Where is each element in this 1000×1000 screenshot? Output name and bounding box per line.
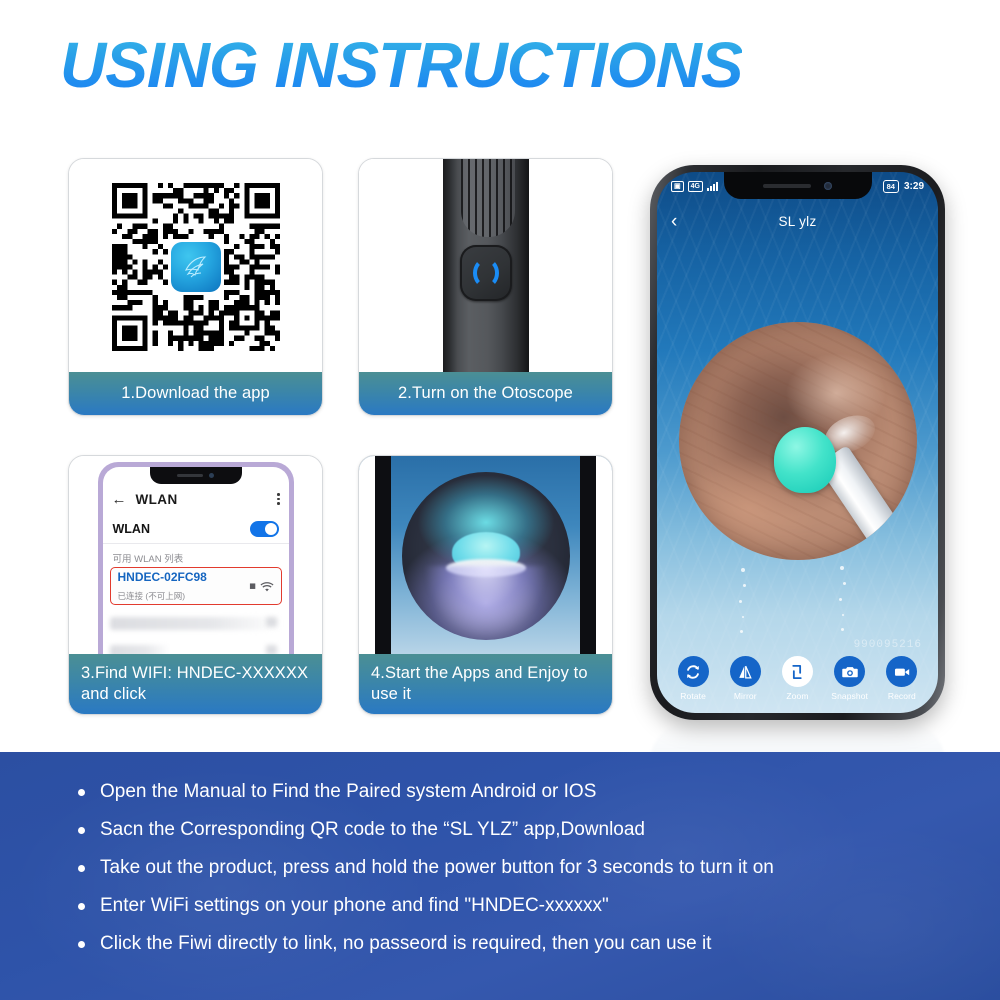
wifi-network-item[interactable]: HNDEC-02FC98 已连接 (不可上网) ⏹︎ [110, 567, 282, 605]
blurred-network-icon [266, 617, 277, 627]
mirror-icon [730, 656, 761, 687]
wlan-screenshot-area: ← WLAN WLAN 可用 WLAN 列表 HNDEC-02FC98 已连接 … [69, 456, 322, 656]
card-download-app[interactable]: 1.Download the app [68, 158, 323, 416]
wifi-ssid: HNDEC-02FC98 [118, 570, 207, 584]
rotate-icon [678, 656, 709, 687]
mini-phone-screen: ← WLAN WLAN 可用 WLAN 列表 HNDEC-02FC98 已连接 … [103, 467, 289, 656]
available-networks-label: 可用 WLAN 列表 [113, 551, 184, 565]
wlan-toggle-label: WLAN [113, 522, 151, 536]
card-turn-on-otoscope[interactable]: 2.Turn on the Otoscope [358, 158, 613, 416]
card-find-wifi[interactable]: ← WLAN WLAN 可用 WLAN 列表 HNDEC-02FC98 已连接 … [68, 455, 323, 715]
wlan-toggle-row[interactable]: WLAN [103, 514, 289, 544]
status-bar: ▣ 4G 84 3:29 [657, 176, 938, 196]
toolbar-label-record: Record [888, 691, 916, 701]
toolbar-label-mirror: Mirror [734, 691, 757, 701]
wlan-app-bar: ← WLAN [103, 484, 289, 514]
back-arrow-icon[interactable]: ← [112, 492, 127, 507]
video-icon [886, 656, 917, 687]
toolbar-button-rotate[interactable]: Rotate [669, 656, 717, 701]
screen-edge-right [596, 456, 612, 656]
app-title: SL ylz [778, 214, 816, 229]
wifi-signal-icon: ⏹︎ [249, 579, 273, 592]
power-button[interactable] [460, 245, 512, 301]
probe-tip-icon [774, 427, 836, 493]
blurred-network-row [110, 617, 282, 630]
otoscope-handle [443, 159, 529, 374]
page-title: USING INSTRUCTIONS [60, 28, 742, 102]
signal-bars-icon [707, 182, 718, 191]
sim-icon: ▣ [671, 181, 684, 192]
card-caption-4: 4.Start the Apps and Enjoy to use it [359, 654, 612, 714]
list-item: Take out the product, press and hold the… [72, 858, 970, 877]
camera-icon [834, 656, 865, 687]
camera-toolbar: Rotate Mirror Zoom [657, 656, 938, 701]
qr-code-area [69, 159, 322, 374]
wifi-status: 已连接 (不可上网) [118, 591, 186, 601]
otoscope-device [359, 159, 612, 374]
battery-indicator: 84 [883, 180, 899, 193]
power-led-ring-icon [473, 258, 499, 288]
toolbar-button-zoom[interactable]: Zoom [773, 656, 821, 701]
front-camera-icon [209, 473, 214, 478]
list-item: Click the Fiwi directly to link, no pass… [72, 934, 970, 953]
card-caption-2: 2.Turn on the Otoscope [359, 372, 612, 415]
toolbar-button-record[interactable]: Record [878, 656, 926, 701]
phone-mockup: ▣ 4G 84 3:29 ‹ SL ylz [650, 165, 945, 720]
mini-notch [150, 467, 242, 484]
toolbar-button-mirror[interactable]: Mirror [721, 656, 769, 701]
card-caption-3: 3.Find WIFI: HNDEC-XXXXXX and click [69, 654, 322, 714]
list-item: Sacn the Corresponding QR code to the “S… [72, 820, 970, 839]
zoom-icon [782, 656, 813, 687]
toolbar-label-zoom: Zoom [786, 691, 808, 701]
otoscope-camera-view [402, 472, 570, 640]
chevron-left-icon[interactable]: ‹ [671, 212, 677, 231]
overflow-menu-icon[interactable] [277, 493, 280, 505]
watermark: 990095216 [854, 639, 922, 651]
qr-code[interactable] [112, 183, 280, 351]
phone-screen: ▣ 4G 84 3:29 ‹ SL ylz [657, 172, 938, 713]
network-type-label: 4G [688, 181, 703, 192]
screen-edge-left [359, 456, 375, 656]
toolbar-label-snapshot: Snapshot [831, 691, 868, 701]
otoscope-grip-ribs [461, 159, 515, 237]
clock: 3:29 [904, 181, 924, 192]
card-start-apps[interactable]: 4.Start the Apps and Enjoy to use it [358, 455, 613, 715]
instruction-list: Open the Manual to Find the Paired syste… [72, 782, 970, 972]
scope-light-cone [411, 566, 561, 640]
otoscope-photo-area [359, 159, 612, 374]
toolbar-button-snapshot[interactable]: Snapshot [826, 656, 874, 701]
app-bar: ‹ SL ylz [657, 208, 938, 234]
mini-phone-frame: ← WLAN WLAN 可用 WLAN 列表 HNDEC-02FC98 已连接 … [98, 462, 294, 656]
phone-bezel-right [580, 456, 596, 656]
wlan-toggle-switch[interactable] [250, 521, 279, 537]
scope-screen [359, 456, 612, 656]
list-item: Enter WiFi settings on your phone and fi… [72, 896, 970, 915]
wlan-title: WLAN [136, 492, 178, 507]
scope-preview-area [359, 456, 612, 656]
card-caption-1: 1.Download the app [69, 372, 322, 415]
app-logo-icon [171, 242, 221, 292]
phone-bezel-left [375, 456, 391, 656]
ear-canal-view [679, 322, 917, 560]
earpiece-speaker-icon [177, 474, 203, 477]
list-item: Open the Manual to Find the Paired syste… [72, 782, 970, 801]
instructions-banner: Open the Manual to Find the Paired syste… [0, 752, 1000, 1000]
toolbar-label-rotate: Rotate [680, 691, 706, 701]
